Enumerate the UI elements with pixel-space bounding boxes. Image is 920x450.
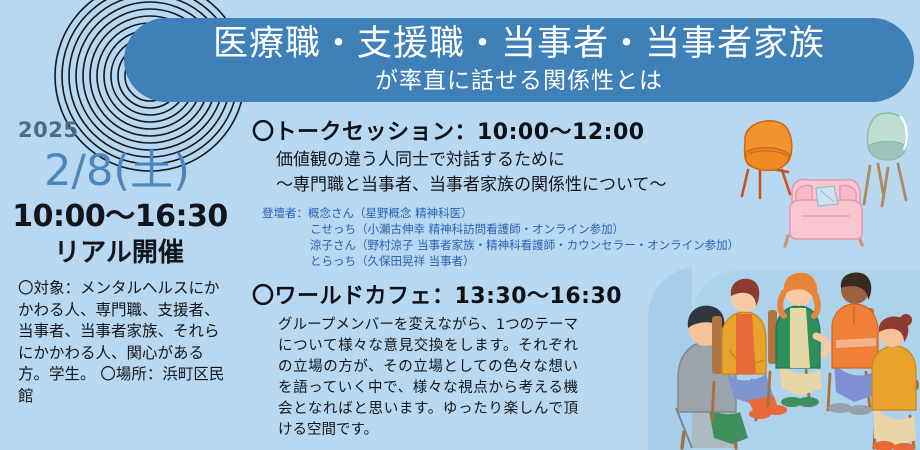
flyer-canvas: 医療職・支援職・当事者・当事者家族 が率直に話せる関係性とは 2025 2/8(… — [0, 0, 920, 450]
event-format: リアル開催 — [0, 236, 246, 270]
event-year: 2025 — [18, 118, 246, 142]
banner-title: 医療職・支援職・当事者・当事者家族 — [213, 21, 825, 67]
world-cafe-body: グループメンバーを変えながら、1つのテーマについて様々な意見交換をします。それぞ… — [278, 315, 578, 441]
title-banner: 医療職・支援職・当事者・当事者家族 が率直に話せる関係性とは — [124, 18, 914, 102]
event-time: 10:00〜16:30 — [0, 198, 246, 236]
speaker-list: 登壇者：概念さん（星野概念 精神科医） こせっち（小瀬古伸幸 精神科訪問看護師・… — [262, 205, 852, 269]
speaker-row-3: 涼子さん（野村涼子 当事者家族・精神科看護師・カウンセラー・オンライン参加） — [262, 237, 852, 253]
speaker-name-1: 概念さん（星野概念 精神科医） — [308, 206, 473, 220]
world-cafe-heading: 〇ワールドカフェ：13:30〜16:30 — [252, 282, 852, 312]
section-world-cafe: 〇ワールドカフェ：13:30〜16:30 グループメンバーを変えながら、1つのテ… — [252, 282, 852, 441]
talk-session-lead-2: 〜専門職と当事者、当事者家族の関係性について〜 — [276, 173, 852, 198]
event-details: 〇対象：メンタルヘルスにかかわる人、専門職、支援者、当事者、当事者家族、それらに… — [18, 278, 226, 407]
speaker-row-2: こせっち（小瀬古伸幸 精神科訪問看護師・オンライン参加） — [262, 221, 852, 237]
banner-subtitle: が率直に話せる関係性とは — [375, 67, 663, 96]
mint-dining-chair — [864, 113, 907, 206]
speakers-label: 登壇者： — [262, 206, 308, 220]
section-talk-session: 〇トークセッション：10:00〜12:00 価値観の違う人同士で対話するために … — [252, 118, 852, 269]
event-date: 2/8(土) — [0, 144, 246, 198]
talk-session-heading: 〇トークセッション：10:00〜12:00 — [252, 118, 852, 148]
program-column: 〇トークセッション：10:00〜12:00 価値観の違う人同士で対話するために … — [252, 118, 852, 441]
speaker-row-1: 登壇者：概念さん（星野概念 精神科医） — [262, 205, 852, 221]
speaker-row-4: とらっち（久保田晃祥 当事者） — [262, 253, 852, 269]
event-info-column: 2025 2/8(土) 10:00〜16:30 リアル開催 〇対象：メンタルヘル… — [0, 118, 246, 407]
talk-session-lead-1: 価値観の違う人同士で対話するために — [276, 148, 852, 173]
